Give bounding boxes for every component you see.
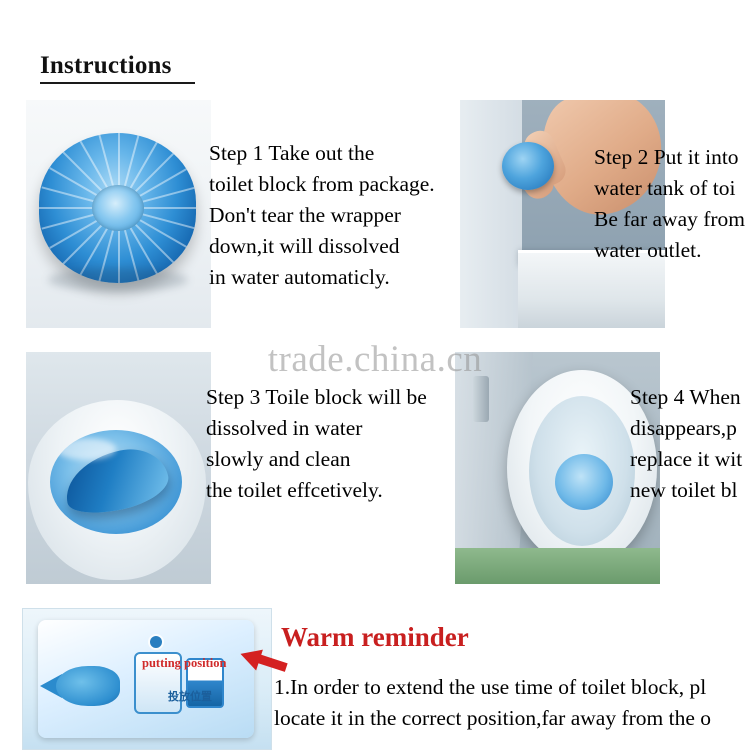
blue-water xyxy=(50,430,182,534)
putting-position-label-cn: 投放位置 xyxy=(168,688,212,704)
toilet-block-in-hand xyxy=(502,142,554,190)
package-card: putting position 投放位置 xyxy=(38,620,254,738)
water-highlight xyxy=(56,438,116,460)
blue-water-spot xyxy=(555,454,613,510)
wall-tile xyxy=(460,100,524,328)
bowl-interior xyxy=(529,396,635,546)
step-1-image xyxy=(26,100,211,328)
instructions-page: Instructions xyxy=(0,0,750,750)
floor-strip xyxy=(455,548,660,584)
block-shadow xyxy=(48,268,188,292)
step-1-text: Step 1 Take out the toilet block from pa… xyxy=(209,138,459,293)
toilet-block-disc xyxy=(39,133,196,283)
warm-reminder-body: 1.In order to extend the use time of toi… xyxy=(274,672,711,734)
step-3-image xyxy=(26,352,211,584)
block-center xyxy=(92,185,144,231)
warm-reminder-title: Warm reminder xyxy=(281,622,469,653)
package-position-image: putting position 投放位置 xyxy=(22,608,272,750)
step-2-text: Step 2 Put it into water tank of toi Be … xyxy=(594,142,750,266)
step-3-text: Step 3 Toile block will be dissolved in … xyxy=(206,382,466,506)
position-marker-dot xyxy=(150,636,162,648)
page-title: Instructions xyxy=(40,52,172,80)
step-4-text: Step 4 When disappears,p replace it wit … xyxy=(630,382,750,506)
page-title-underline xyxy=(40,82,195,84)
putting-position-label-en: putting position xyxy=(142,656,226,671)
fish-icon xyxy=(56,666,120,706)
flush-pipe xyxy=(473,376,489,422)
